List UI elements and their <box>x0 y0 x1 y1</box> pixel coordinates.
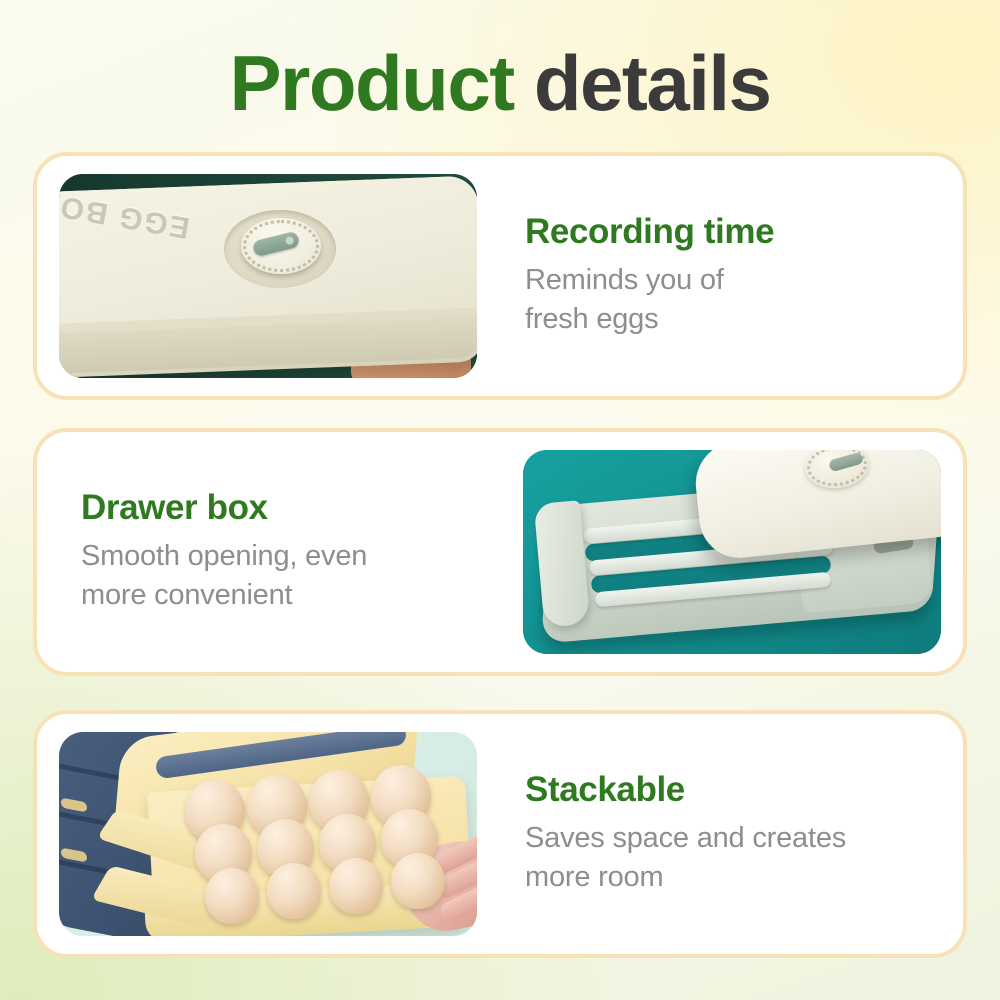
feature-title: Drawer box <box>81 490 497 527</box>
feature-card-drawer-box: Drawer box Smooth opening, even more con… <box>33 428 967 676</box>
feature-image-recording-time: EGG BOX <box>59 174 477 378</box>
page-title: Product details <box>0 44 1000 122</box>
feature-card-recording-time: EGG BOX Recording time Reminds you of fr… <box>33 152 967 400</box>
egg <box>267 863 321 919</box>
feature-description: Reminds you of fresh eggs <box>525 261 945 338</box>
feature-card-stackable: Stackable Saves space and creates more r… <box>33 710 967 958</box>
feature-description: Saves space and creates more room <box>525 819 945 896</box>
feature-text-drawer-box: Drawer box Smooth opening, even more con… <box>37 490 501 615</box>
feature-title: Recording time <box>525 214 949 251</box>
feature-text-stackable: Stackable Saves space and creates more r… <box>499 772 963 897</box>
egg <box>391 853 445 909</box>
page-title-dark: details <box>514 39 771 127</box>
feature-description: Smooth opening, even more convenient <box>81 537 481 614</box>
feature-text-recording-time: Recording time Reminds you of fresh eggs <box>499 214 963 339</box>
feature-image-drawer-box <box>523 450 941 654</box>
egg <box>329 858 383 914</box>
feature-title: Stackable <box>525 772 949 809</box>
product-details-page: Product details EGG BOX Recording time R… <box>0 0 1000 1000</box>
page-title-green: Product <box>230 39 514 127</box>
egg <box>205 868 259 924</box>
feature-image-stackable <box>59 732 477 936</box>
